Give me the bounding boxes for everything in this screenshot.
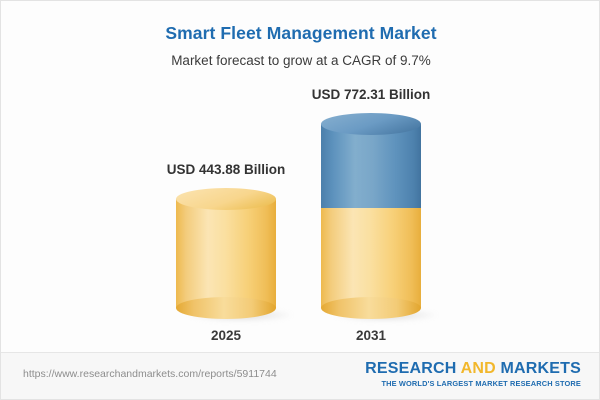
logo-word-markets: MARKETS bbox=[500, 360, 581, 377]
logo-wordmark: RESEARCH AND MARKETS bbox=[365, 360, 581, 378]
plot-area: USD 443.88 Billion 2025 USD 772.31 Billi… bbox=[1, 1, 600, 353]
bar-body bbox=[321, 208, 421, 308]
chart-canvas: Smart Fleet Management Market Market for… bbox=[1, 1, 600, 353]
footer-bar: https://www.researchandmarkets.com/repor… bbox=[1, 352, 599, 399]
value-label-2031: USD 772.31 Billion bbox=[251, 87, 491, 102]
bar-foot-clip bbox=[321, 297, 421, 319]
bar-body bbox=[176, 199, 276, 308]
bar-top-ellipse-2025 bbox=[176, 188, 276, 210]
bar-segment-growth-2031 bbox=[321, 124, 421, 208]
bar-segment-base-2025 bbox=[176, 199, 276, 308]
brand-logo[interactable]: RESEARCH AND MARKETS THE WORLD'S LARGEST… bbox=[365, 360, 581, 388]
bar-2031[interactable] bbox=[321, 124, 421, 308]
bar-2025[interactable] bbox=[176, 199, 276, 308]
bar-bottom-ellipse bbox=[176, 297, 276, 319]
bar-body bbox=[321, 124, 421, 208]
bar-segment-base-2031 bbox=[321, 208, 421, 308]
bar-top-ellipse-2031 bbox=[321, 113, 421, 135]
category-label-2025: 2025 bbox=[176, 328, 276, 343]
logo-word-research: RESEARCH bbox=[365, 360, 456, 377]
category-label-2031: 2031 bbox=[321, 328, 421, 343]
value-label-2025: USD 443.88 Billion bbox=[106, 162, 346, 177]
logo-word-and: AND bbox=[461, 360, 496, 377]
source-url[interactable]: https://www.researchandmarkets.com/repor… bbox=[23, 368, 277, 380]
bar-foot-clip bbox=[176, 297, 276, 319]
chart-card: Smart Fleet Management Market Market for… bbox=[0, 0, 600, 400]
bar-bottom-ellipse bbox=[321, 297, 421, 319]
logo-tagline: THE WORLD'S LARGEST MARKET RESEARCH STOR… bbox=[365, 379, 581, 388]
